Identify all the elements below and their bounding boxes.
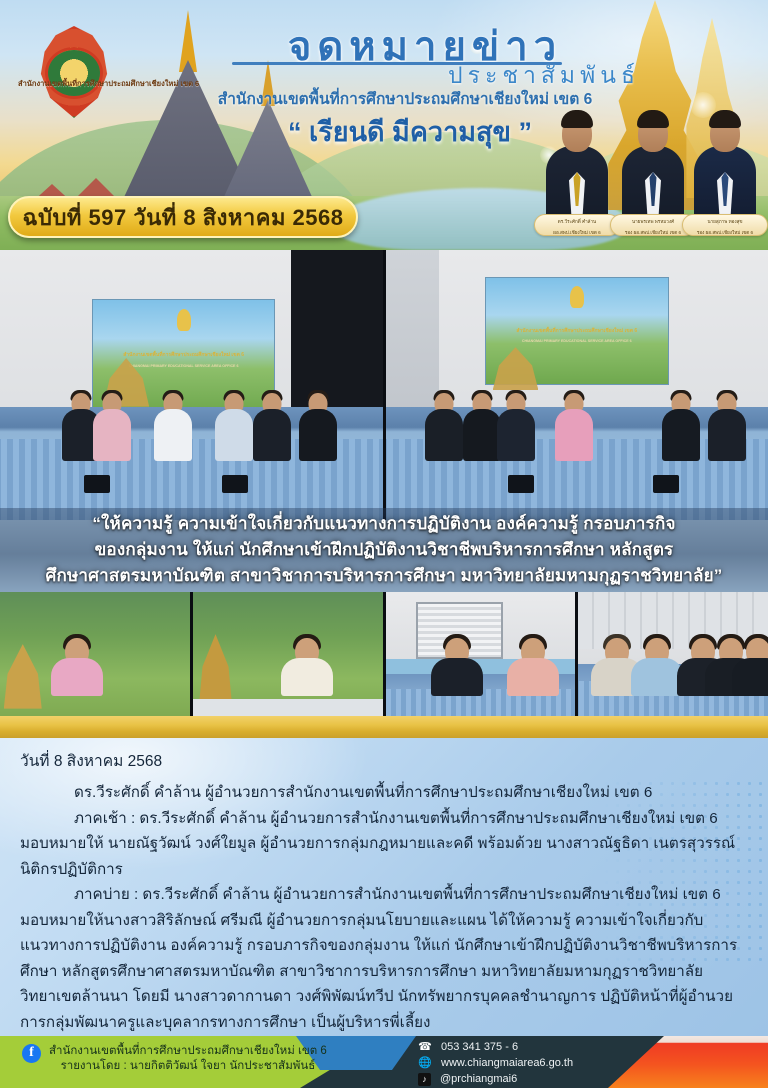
official-portrait-3: นายสุภาพ ทองสุข รอง ผอ.สพป.เชียงใหม่ เขต… [686, 104, 764, 232]
quote-line-2: ของกลุ่มงาน ให้แก่ นักศึกษาเข้าฝึกปฏิบัต… [6, 537, 762, 563]
official-portrait-1: ดร.วีระศักดิ์ คำล้าน ผอ.สพป.เชียงใหม่ เข… [538, 104, 616, 232]
backdrop-thai-text: สำนักงานเขตพื้นที่การศึกษาประถมศึกษาเชีย… [486, 327, 668, 335]
backdrop-en-text: CHIANGMAI PRIMARY EDUCATIONAL SERVICE AR… [486, 339, 668, 343]
globe-icon: 🌐 [418, 1056, 432, 1070]
newsletter-page: สำนักงานเขตพื้นที่การศึกษาประถมศึกษาเชีย… [0, 0, 768, 1088]
footer-bar: f สำนักงานเขตพื้นที่การศึกษาประถมศึกษาเช… [0, 1036, 768, 1088]
tiktok-icon: ♪ [418, 1073, 431, 1086]
official-nameplate: ดร.วีระศักดิ์ คำล้าน ผอ.สพป.เชียงใหม่ เข… [534, 214, 620, 236]
article-body: วันที่ 8 สิงหาคม 2568 ดร.วีระศักดิ์ คำล้… [0, 738, 768, 1036]
photo-speaker-cream [193, 592, 383, 716]
phone-icon: ☎ [418, 1040, 432, 1054]
photo-row-bottom [0, 592, 768, 716]
article-text: ดร.วีระศักดิ์ คำล้าน ผู้อำนวยการสำนักงาน… [20, 780, 744, 1035]
photo-two-participants [386, 592, 576, 716]
official-position: รอง ผอ.สพป.เชียงใหม่ เขต 6 [683, 226, 767, 237]
article-paragraph-3: ภาคบ่าย : ดร.วีระศักดิ์ คำล้าน ผู้อำนวยก… [20, 882, 744, 1035]
article-paragraph-2: ภาคเช้า : ดร.วีระศักดิ์ คำล้าน ผู้อำนวยก… [20, 806, 744, 883]
quote-overlay: “ให้ความรู้ ความเข้าใจเกี่ยวกับแนวทางการ… [0, 508, 768, 592]
website-url: www.chiangmaiarea6.go.th [441, 1055, 573, 1071]
official-portrait-2: นายพรเทพ พรหมวงศ์ รอง ผอ.สพป.เชียงใหม่ เ… [614, 104, 692, 232]
quote-line-1: “ให้ความรู้ ความเข้าใจเกี่ยวกับแนวทางการ… [6, 511, 762, 537]
contact-phone-row[interactable]: ☎ 053 341 375 - 6 [418, 1039, 573, 1055]
gold-divider [0, 716, 768, 738]
issue-badge: ฉบับที่ 597 วันที่ 8 สิงหาคม 2568 [8, 196, 358, 238]
photo-meeting-group [578, 592, 768, 716]
footer-facebook-block[interactable]: f สำนักงานเขตพื้นที่การศึกษาประถมศึกษาเช… [22, 1044, 327, 1074]
obec-emblem: สำนักงานเขตพื้นที่การศึกษาประถมศึกษาเชีย… [18, 20, 130, 136]
official-name: นายสุภาพ ทองสุข [683, 215, 767, 226]
reporter-credit: รายงานโดย : นายกิตติวัฒน์ ใจยา นักประชาส… [49, 1059, 327, 1074]
quote-line-3: ศึกษาศาสตรมหาบัณฑิต สาขาวิชาการบริหารการ… [6, 563, 762, 589]
photo-speaker-pink [0, 592, 190, 716]
official-name: ดร.วีระศักดิ์ คำล้าน [535, 215, 619, 226]
phone-number: 053 341 375 - 6 [441, 1039, 518, 1055]
facebook-page-name: สำนักงานเขตพื้นที่การศึกษาประถมศึกษาเชีย… [49, 1044, 327, 1059]
article-date: วันที่ 8 สิงหาคม 2568 [20, 748, 162, 773]
contact-website-row[interactable]: 🌐 www.chiangmaiarea6.go.th [418, 1055, 573, 1071]
footer-contact-block: ☎ 053 341 375 - 6 🌐 www.chiangmaiarea6.g… [418, 1039, 573, 1087]
facebook-icon[interactable]: f [22, 1044, 41, 1063]
photo-row-top: สำนักงานเขตพื้นที่การศึกษาประถมศึกษาเชีย… [0, 250, 768, 520]
backdrop-thai-text: สำนักงานเขตพื้นที่การศึกษาประถมศึกษาเชีย… [93, 351, 275, 359]
photo-meeting-room-left: สำนักงานเขตพื้นที่การศึกษาประถมศึกษาเชีย… [0, 250, 383, 520]
header-banner: สำนักงานเขตพื้นที่การศึกษาประถมศึกษาเชีย… [0, 0, 768, 250]
emblem-arc-label: สำนักงานเขตพื้นที่การศึกษาประถมศึกษาเชีย… [18, 78, 142, 90]
article-paragraph-1: ดร.วีระศักดิ์ คำล้าน ผู้อำนวยการสำนักงาน… [20, 780, 744, 806]
official-nameplate: นายสุภาพ ทองสุข รอง ผอ.สพป.เชียงใหม่ เขต… [682, 214, 768, 236]
official-position: ผอ.สพป.เชียงใหม่ เขต 6 [535, 226, 619, 237]
photo-meeting-room-right: สำนักงานเขตพื้นที่การศึกษาประถมศึกษาเชีย… [386, 250, 768, 520]
tiktok-handle: @prchiangmai6 [440, 1071, 517, 1087]
contact-tiktok-row[interactable]: ♪ @prchiangmai6 [418, 1071, 573, 1087]
